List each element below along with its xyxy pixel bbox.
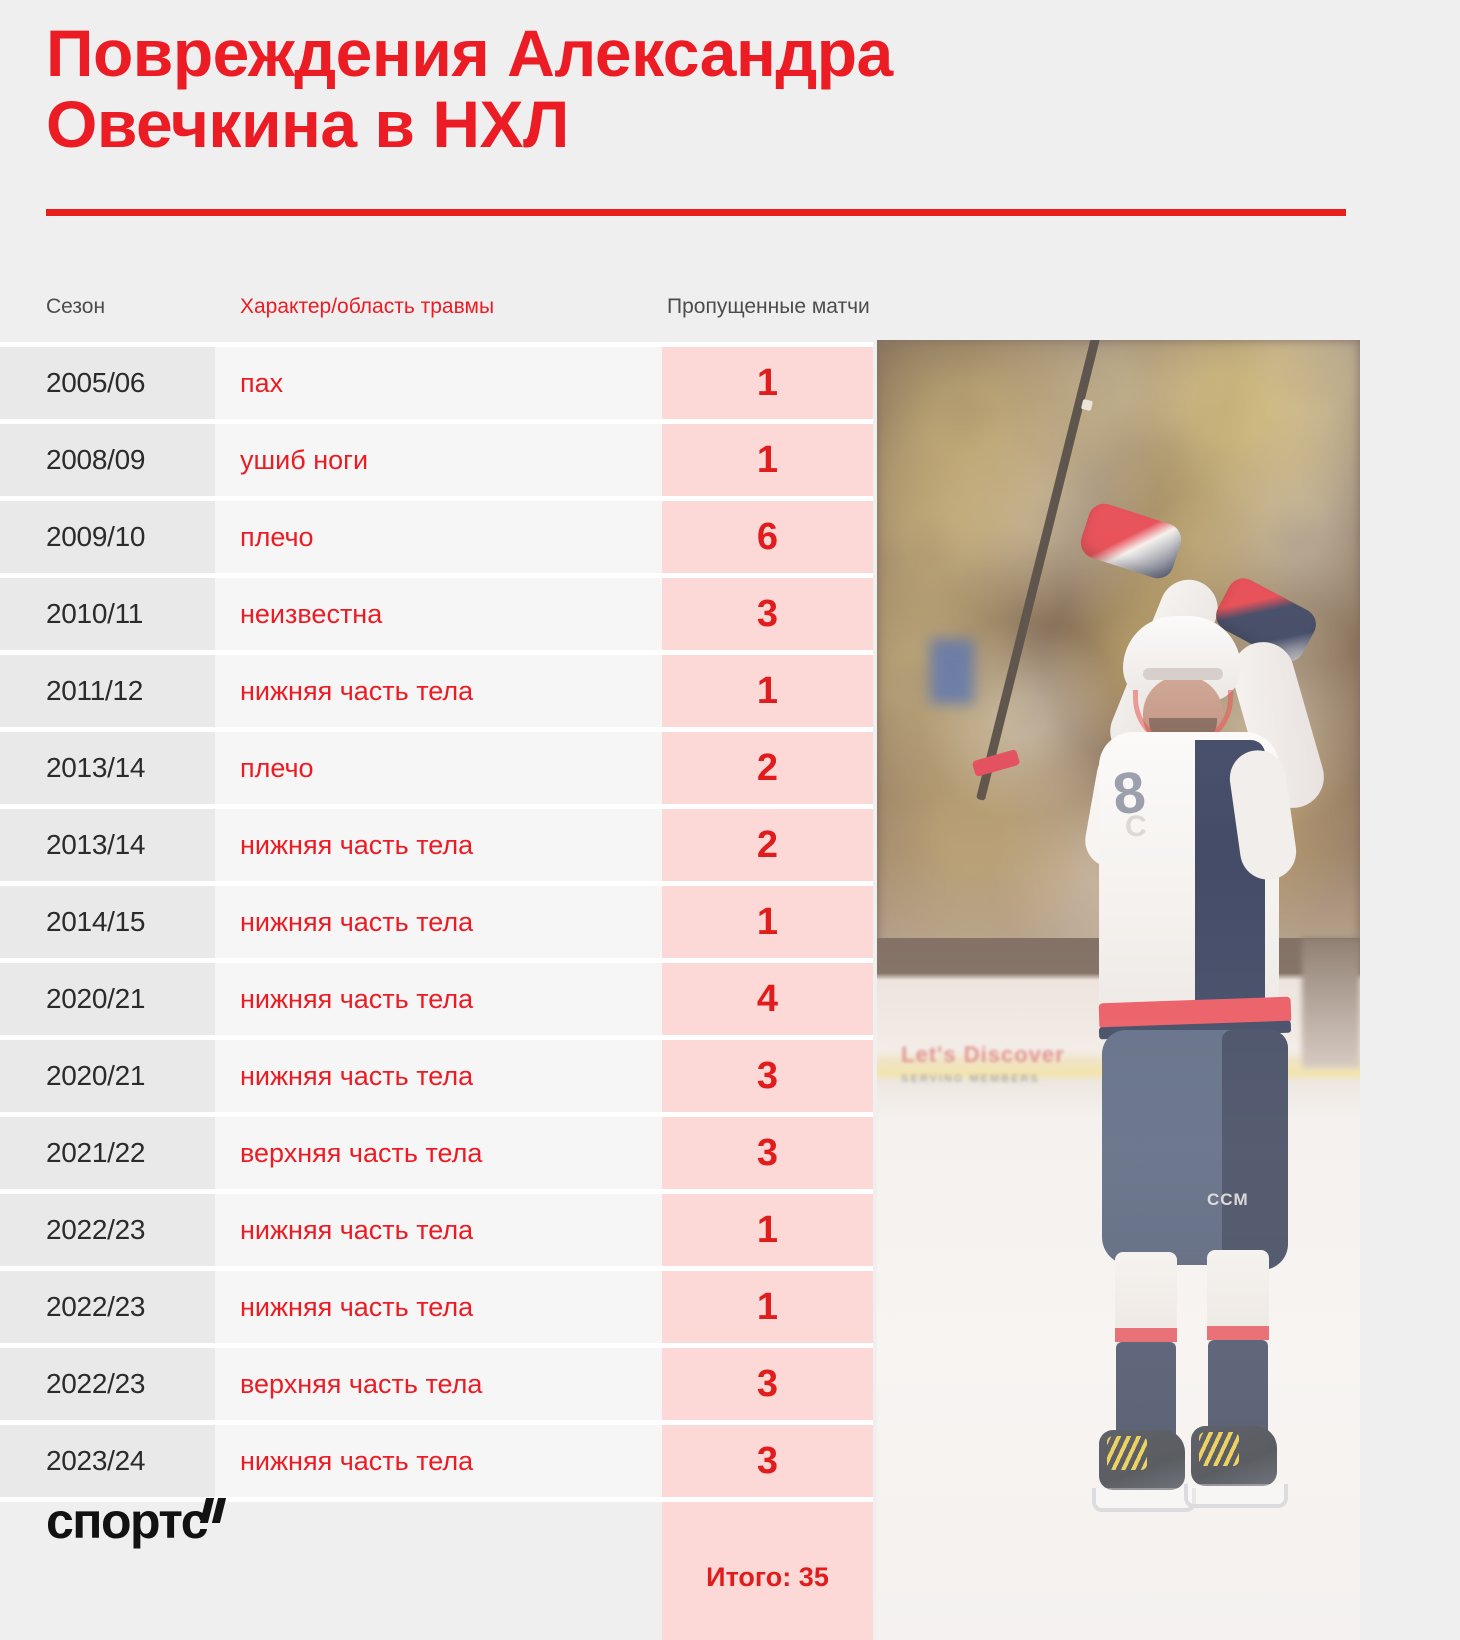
missed-games-value: 3 — [757, 1055, 778, 1098]
season-label: 2013/14 — [46, 752, 145, 784]
missed-games-value: 3 — [757, 593, 778, 636]
cell-season: 2008/09 — [0, 424, 215, 496]
cell-injury: плечо — [215, 501, 662, 573]
cell-missed-games: 1 — [662, 347, 873, 419]
cell-season: 2022/23 — [0, 1271, 215, 1343]
cell-injury: пах — [215, 347, 662, 419]
cell-injury: нижняя часть тела — [215, 1425, 662, 1497]
cell-injury: нижняя часть тела — [215, 655, 662, 727]
cell-missed-games: 2 — [662, 732, 873, 804]
table-header-row: Сезон Характер/область травмы Пропущенны… — [0, 272, 1460, 342]
cell-missed-games: 1 — [662, 886, 873, 958]
injury-label: нижняя часть тела — [240, 1061, 473, 1092]
cell-injury: нижняя часть тела — [215, 963, 662, 1035]
skate-blade-left — [1092, 1488, 1196, 1512]
pants-brand-label: CCM — [1207, 1190, 1249, 1210]
injury-label: нижняя часть тела — [240, 907, 473, 938]
season-label: 2022/23 — [46, 1368, 145, 1400]
cell-missed-games: 1 — [662, 1271, 873, 1343]
sports-logo-text: спортс — [46, 1496, 207, 1546]
header-label-injury: Характер/область травмы — [240, 295, 494, 319]
injury-label: нижняя часть тела — [240, 1446, 473, 1477]
cell-season: 2005/06 — [0, 347, 215, 419]
season-label: 2008/09 — [46, 444, 145, 476]
cell-season: 2009/10 — [0, 501, 215, 573]
infographic-page: Повреждения Александра Овечкина в НХЛ Се… — [0, 0, 1460, 1640]
hockey-player: 8 C CCM — [877, 340, 1360, 1640]
injury-label: плечо — [240, 522, 314, 553]
season-label: 2014/15 — [46, 906, 145, 938]
cell-missed-games: 3 — [662, 1425, 873, 1497]
missed-games-value: 3 — [757, 1363, 778, 1406]
missed-games-value: 1 — [757, 901, 778, 944]
sports-logo[interactable]: спортс — [46, 1496, 225, 1546]
player-photo: Let's Discover SERVING MEMBERS 8 C — [877, 340, 1360, 1640]
cell-season: 2022/23 — [0, 1348, 215, 1420]
cell-missed-games: 3 — [662, 1117, 873, 1189]
cell-season: 2022/23 — [0, 1194, 215, 1266]
shin-right — [1208, 1340, 1268, 1440]
cell-season: 2014/15 — [0, 886, 215, 958]
missed-games-value: 2 — [757, 747, 778, 790]
cell-missed-games: 1 — [662, 1194, 873, 1266]
cell-missed-games: 4 — [662, 963, 873, 1035]
injury-label: неизвестна — [240, 599, 382, 630]
season-label: 2020/21 — [46, 1060, 145, 1092]
footer-cell-injury — [215, 1502, 662, 1640]
shin-left — [1116, 1342, 1176, 1442]
cell-season: 2013/14 — [0, 809, 215, 881]
injury-label: нижняя часть тела — [240, 830, 473, 861]
sock-stripe-right — [1207, 1326, 1269, 1340]
injury-label: нижняя часть тела — [240, 1292, 473, 1323]
cell-injury: верхняя часть тела — [215, 1117, 662, 1189]
cell-season: 2023/24 — [0, 1425, 215, 1497]
title-block: Повреждения Александра Овечкина в НХЛ — [46, 18, 1346, 159]
header-cell-photo-spacer — [873, 272, 1460, 342]
missed-games-value: 4 — [757, 978, 778, 1021]
cell-injury: нижняя часть тела — [215, 886, 662, 958]
cell-missed-games: 2 — [662, 809, 873, 881]
header-cell-missed: Пропущенные матчи — [662, 272, 873, 342]
cell-season: 2013/14 — [0, 732, 215, 804]
header-label-missed: Пропущенные матчи — [667, 295, 870, 319]
season-label: 2013/14 — [46, 829, 145, 861]
injury-label: нижняя часть тела — [240, 676, 473, 707]
season-label: 2020/21 — [46, 983, 145, 1015]
missed-games-value: 3 — [757, 1132, 778, 1175]
cell-injury: ушиб ноги — [215, 424, 662, 496]
cell-season: 2020/21 — [0, 963, 215, 1035]
cell-missed-games: 1 — [662, 655, 873, 727]
season-label: 2009/10 — [46, 521, 145, 553]
cell-injury: плечо — [215, 732, 662, 804]
skate-blade-right — [1184, 1484, 1288, 1508]
season-label: 2022/23 — [46, 1214, 145, 1246]
cell-season: 2021/22 — [0, 1117, 215, 1189]
title-divider — [46, 209, 1346, 216]
season-label: 2011/12 — [46, 675, 143, 707]
season-label: 2022/23 — [46, 1291, 145, 1323]
header-cell-injury: Характер/область травмы — [215, 272, 662, 342]
cell-injury: нижняя часть тела — [215, 1194, 662, 1266]
missed-games-value: 6 — [757, 516, 778, 559]
cell-season: 2020/21 — [0, 1040, 215, 1112]
missed-games-value: 3 — [757, 1440, 778, 1483]
cell-season: 2011/12 — [0, 655, 215, 727]
page-title: Повреждения Александра Овечкина в НХЛ — [46, 18, 1346, 159]
injury-label: нижняя часть тела — [240, 984, 473, 1015]
season-label: 2021/22 — [46, 1137, 145, 1169]
hockey-pants-side — [1222, 1030, 1288, 1270]
total-missed-label: Итого: 35 — [706, 1562, 829, 1593]
cell-injury: нижняя часть тела — [215, 1271, 662, 1343]
skate-laces-right — [1199, 1432, 1239, 1466]
header-cell-season: Сезон — [0, 272, 215, 342]
injury-label: верхняя часть тела — [240, 1138, 482, 1169]
cell-injury: нижняя часть тела — [215, 809, 662, 881]
header-label-season: Сезон — [46, 295, 105, 319]
quote-mark-icon — [203, 1498, 225, 1524]
footer-cell-total: Итого: 35 — [662, 1502, 873, 1640]
season-label: 2005/06 — [46, 367, 145, 399]
injury-label: плечо — [240, 753, 314, 784]
cell-season: 2010/11 — [0, 578, 215, 650]
injury-label: нижняя часть тела — [240, 1215, 473, 1246]
missed-games-value: 1 — [757, 362, 778, 405]
cell-missed-games: 3 — [662, 578, 873, 650]
missed-games-value: 1 — [757, 1209, 778, 1252]
missed-games-value: 2 — [757, 824, 778, 867]
helmet-visor — [1143, 668, 1223, 680]
cell-missed-games: 3 — [662, 1348, 873, 1420]
jersey-captain-patch: C — [1125, 810, 1147, 844]
cell-injury: верхняя часть тела — [215, 1348, 662, 1420]
missed-games-value: 1 — [757, 670, 778, 713]
stick-tape — [1081, 399, 1093, 411]
injury-label: верхняя часть тела — [240, 1369, 482, 1400]
cell-missed-games: 3 — [662, 1040, 873, 1112]
injury-label: пах — [240, 368, 283, 399]
season-label: 2010/11 — [46, 598, 143, 630]
glove-left — [1077, 500, 1186, 583]
missed-games-value: 1 — [757, 439, 778, 482]
cell-injury: неизвестна — [215, 578, 662, 650]
skate-laces-left — [1107, 1436, 1147, 1470]
season-label: 2023/24 — [46, 1445, 145, 1477]
sock-stripe-left — [1115, 1328, 1177, 1342]
cell-missed-games: 1 — [662, 424, 873, 496]
cell-injury: нижняя часть тела — [215, 1040, 662, 1112]
missed-games-value: 1 — [757, 1286, 778, 1329]
injury-label: ушиб ноги — [240, 445, 368, 476]
cell-missed-games: 6 — [662, 501, 873, 573]
